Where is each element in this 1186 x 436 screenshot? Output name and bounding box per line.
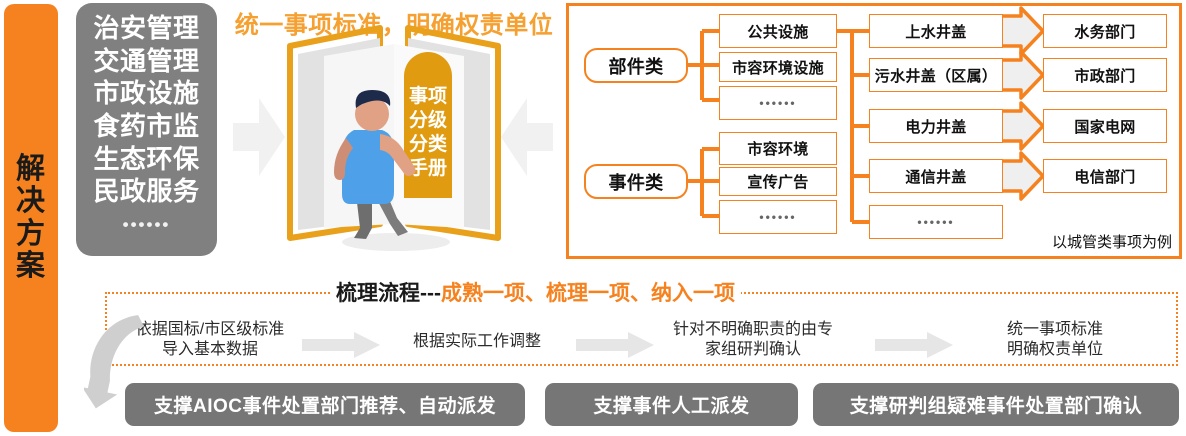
process-arrow-icon-0	[302, 332, 380, 358]
tree-root-0[interactable]: 部件类	[584, 48, 688, 83]
domain-category-list: 治安管理 交通管理 市政设施 食药市监 生态环保 民政服务 ••••••	[76, 12, 217, 235]
domain-item-1: 交通管理	[76, 45, 217, 78]
tree-panel-note: 以城管类事项为例	[1052, 231, 1172, 252]
process-title-orange: 成熟一项、梳理一项、纳入一项	[441, 282, 735, 305]
tree-root-1[interactable]: 事件类	[584, 164, 688, 199]
process-step-2: 针对不明确职责的由专 家组研判确认	[648, 320, 858, 360]
domain-item-4: 生态环保	[76, 143, 217, 176]
bottom-pill-1[interactable]: 支撑事件人工派发	[545, 383, 798, 426]
tree-level3-4[interactable]: ••••••	[869, 205, 1003, 239]
chevron-right-arrow-icon	[999, 8, 1043, 199]
left-solution-tab-label: 解 决 方 案	[4, 153, 58, 283]
tree-level3-2[interactable]: 电力井盖	[869, 109, 1003, 143]
bottom-pill-0[interactable]: 支撑AIOC事件处置部门推荐、自动派发	[125, 383, 525, 426]
book-label-line-1: 事项	[409, 84, 447, 107]
book-label-line-2: 分级	[409, 108, 447, 131]
tree-level3-3[interactable]: 通信井盖	[869, 159, 1003, 193]
left-tab-char-1: 解	[4, 153, 58, 185]
domain-item-5: 民政服务	[76, 175, 217, 208]
left-tab-char-2: 决	[4, 186, 58, 218]
process-title-dark: 梳理流程---	[336, 282, 441, 305]
tree-level3-0[interactable]: 上水井盖	[869, 14, 1003, 48]
process-step-1: 根据实际工作调整	[382, 332, 572, 352]
tree-level2-3[interactable]: 市容环境	[719, 132, 837, 165]
domain-item-ellipsis: ••••••	[76, 214, 217, 235]
tree-level3-1[interactable]: 污水井盖（区属）	[869, 58, 1003, 92]
tree-level2-0[interactable]: 公共设施	[719, 14, 837, 48]
process-step-3-line1: 统一事项标准	[960, 320, 1150, 340]
process-step-3: 统一事项标准 明确权责单位	[960, 320, 1150, 360]
tree-level2-4[interactable]: 宣传广告	[719, 167, 837, 196]
classification-tree-panel: 部件类 事件类 公共设施 市容环境设施 •••••• 市容环境 宣传广告 •••…	[566, 3, 1182, 259]
bottom-pill-2[interactable]: 支撑研判组疑难事件处置部门确认	[813, 383, 1179, 426]
process-step-1-line1: 根据实际工作调整	[382, 332, 572, 352]
process-flow-title: 梳理流程---成熟一项、梳理一项、纳入一项	[330, 277, 741, 307]
tree-department-3[interactable]: 电信部门	[1043, 159, 1167, 193]
tree-department-0[interactable]: 水务部门	[1043, 14, 1167, 48]
tree-level2-5[interactable]: ••••••	[719, 200, 837, 234]
tree-department-2[interactable]: 国家电网	[1043, 109, 1167, 143]
process-step-2-line2: 家组研判确认	[648, 340, 858, 360]
domain-item-2: 市政设施	[76, 77, 217, 110]
domain-item-0: 治安管理	[76, 12, 217, 45]
tree-level2-2[interactable]: ••••••	[719, 86, 837, 120]
left-tab-char-4: 案	[4, 250, 58, 282]
domain-category-panel: 治安管理 交通管理 市政设施 食药市监 生态环保 民政服务 ••••••	[76, 3, 217, 256]
tree-level2-1[interactable]: 市容环境设施	[719, 52, 837, 82]
process-step-2-line1: 针对不明确职责的由专	[648, 320, 858, 340]
tree-department-1[interactable]: 市政部门	[1043, 58, 1167, 92]
tree-level2-2-label: ••••••	[759, 96, 796, 110]
process-step-3-line2: 明确权责单位	[960, 340, 1150, 360]
left-solution-tab: 解 决 方 案	[4, 4, 58, 432]
tree-level2-5-label: ••••••	[759, 210, 796, 224]
domain-item-3: 食药市监	[76, 110, 217, 143]
left-tab-char-3: 方	[4, 218, 58, 250]
solution-overview-diagram: 解 决 方 案 治安管理 交通管理 市政设施 食药市监 生态环保 民政服务 ••…	[0, 0, 1186, 436]
book-label-line-3: 分类	[409, 132, 447, 155]
process-arrow-icon-1	[576, 332, 654, 358]
tree-level3-4-label: ••••••	[917, 215, 954, 229]
process-arrow-icon-2	[875, 332, 953, 358]
open-book-illustration: 事项 分级 分类 手册	[268, 24, 520, 264]
